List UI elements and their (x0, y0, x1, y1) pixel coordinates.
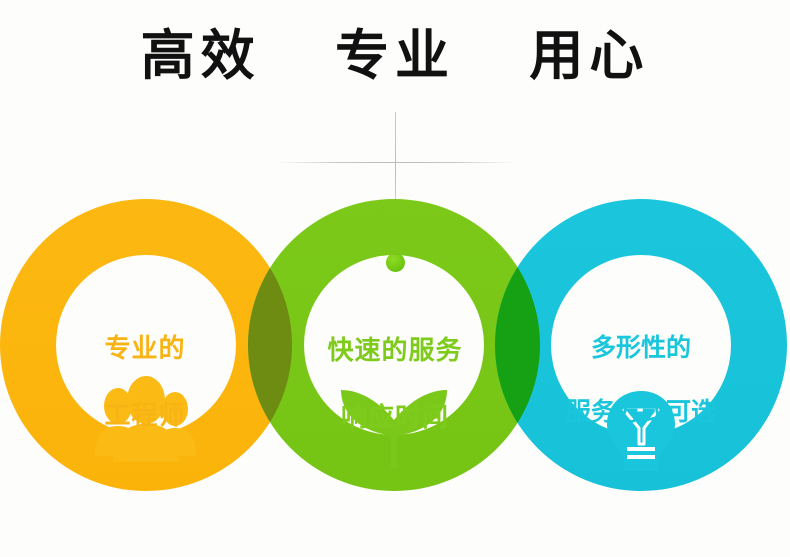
poster-canvas: 高效 专业 用心 (0, 0, 790, 557)
overlap-green-cyan (0, 0, 790, 557)
venn-rings-graphic (0, 0, 790, 557)
